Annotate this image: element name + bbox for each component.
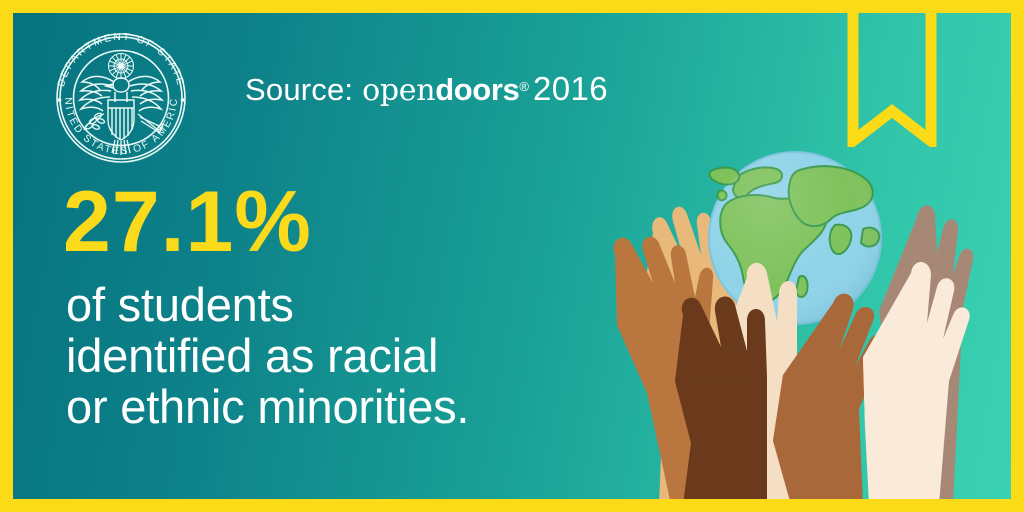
body-line-3: or ethnic minorities. <box>66 381 469 432</box>
opendoors-logo-light: open <box>362 73 435 108</box>
source-attribution: Source: opendoors®2016 <box>245 70 608 108</box>
hand-dark-brown <box>675 296 767 499</box>
body-line-2: identified as racial <box>66 330 469 381</box>
hands-holding-globe-illustration <box>587 125 1011 499</box>
body-line-1: of students <box>66 279 469 330</box>
poster-canvas: DEPARTMENT OF STATE UNITED STATES OF AME… <box>13 13 1011 499</box>
statistic-value: 27.1% <box>63 179 312 265</box>
infographic-poster: DEPARTMENT OF STATE UNITED STATES OF AME… <box>0 0 1024 512</box>
statistic-description: of students identified as racial or ethn… <box>66 279 469 432</box>
registered-mark-icon: ® <box>519 79 529 94</box>
source-year: 2016 <box>533 70 608 107</box>
us-department-of-state-seal: DEPARTMENT OF STATE UNITED STATES OF AME… <box>46 20 196 172</box>
opendoors-logo-bold: doors <box>435 72 519 107</box>
source-prefix: Source: <box>245 72 353 107</box>
